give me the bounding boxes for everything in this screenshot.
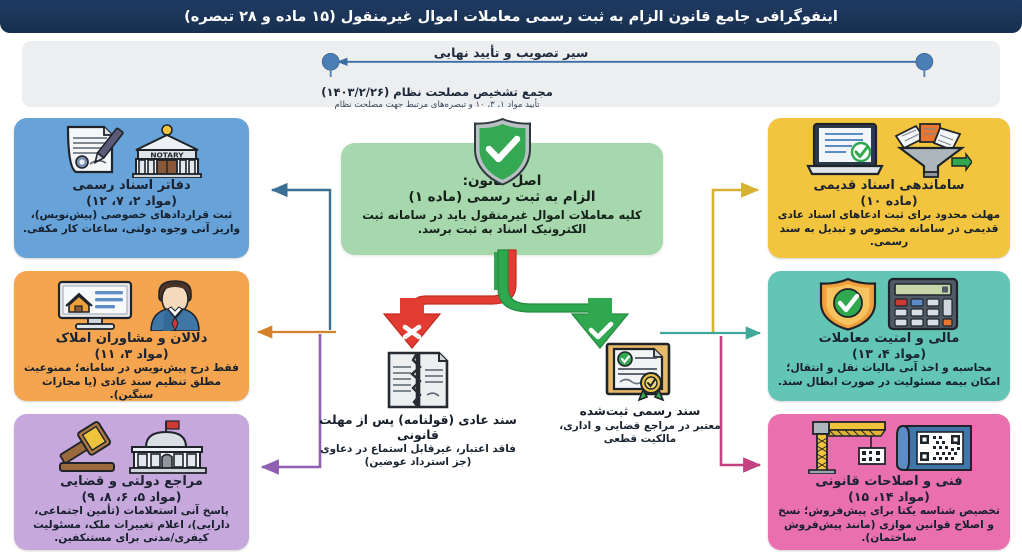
torn-document-icon [318, 349, 518, 411]
connector-old-docs [713, 190, 758, 332]
card-tech-body: تخصیص شناسه یکتا برای پیش‌فروش؛ نسخ و اص… [768, 504, 1010, 545]
verified-laptop-icon [806, 122, 884, 178]
card-gov-body: پاسخ آنی استعلامات (تأمین اجتماعی، دارای… [14, 504, 249, 545]
outcome-informal-title: سند عادی (قولنامه) پس از مهلت قانونی [318, 413, 518, 442]
shield-check-icon [471, 117, 534, 187]
timeline-node-majma-sublabel: تأیید مواد ۱، ۳، ۱۰ و تبصره‌های مرتبط جه… [297, 100, 577, 110]
card-government-judiciary[interactable]: مراجع دولتی و قضایی (مواد ۵، ۶، ۸، ۹) پا… [14, 414, 249, 550]
timeline-node-majma: مجمع تشخیص مصلحت نظام (۱۴۰۳/۲/۲۶) تأیید … [297, 85, 577, 110]
card-notary-title: دفاتر اسناد رسمی [14, 179, 249, 194]
outcome-official-body: معتبر در مراجع قضایی و اداری، مالکیت قطع… [540, 420, 740, 446]
real-estate-agent-icon [141, 279, 209, 331]
card-financial-security[interactable]: مالی و امنیت معاملات (مواد ۴، ۱۳) محاسبه… [768, 271, 1010, 401]
card-fin-articles: (مواد ۴، ۱۳) [768, 347, 1010, 361]
law-principle-title-line2: الزام به ثبت رسمی (ماده ۱) [341, 189, 663, 205]
gavel-icon [54, 420, 120, 474]
card-gov-title: مراجع دولتی و قضایی [14, 475, 249, 490]
signed-document-pen-icon [60, 124, 124, 178]
card-tech-title: فنی و اصلاحات قانونی [768, 475, 1010, 490]
notary-building-icon: NOTARY [130, 124, 204, 178]
property-listing-monitor-icon [55, 279, 135, 331]
card-gov-articles: (مواد ۵، ۶، ۸، ۹) [14, 490, 249, 504]
document-funnel-icon [890, 122, 972, 178]
card-old-body: مهلت محدود برای ثبت ادعاهای اسناد عادی ق… [768, 208, 1010, 249]
infographic-canvas: اینفوگرافی جامع قانون الزام به ثبت رسمی … [0, 0, 1022, 554]
card-fin-icons [768, 275, 1010, 331]
card-tech-icons [768, 418, 1010, 474]
card-brokers-body: فقط درج پیش‌نویس در سامانه؛ ممنوعیت مطلق… [14, 361, 249, 401]
outcome-official-title: سند رسمی ثبت‌شده [540, 404, 740, 419]
law-principle-body: کلیه معاملات اموال غیرمنقول باید در ساما… [341, 208, 663, 237]
government-building-icon [126, 420, 210, 474]
security-shield-check-icon [817, 277, 879, 331]
card-old-articles: (ماده ۱۰) [768, 194, 1010, 208]
outcome-informal-body: فاقد اعتبار، غیرقابل استماع در دعاوی (جز… [318, 443, 518, 469]
card-gov-icons [14, 418, 249, 474]
header-bar: اینفوگرافی جامع قانون الزام به ثبت رسمی … [0, 0, 1022, 33]
outcome-informal-document: سند عادی (قولنامه) پس از مهلت قانونی فاق… [318, 349, 518, 469]
outcome-official-document: سند رسمی ثبت‌شده معتبر در مراجع قضایی و … [540, 340, 740, 446]
calculator-icon [885, 277, 961, 331]
card-notary-offices[interactable]: NOTARY [14, 118, 249, 258]
card-notary-body: ثبت قراردادهای خصوصی (پیش‌نویس)، واریز آ… [14, 208, 249, 235]
official-registered-document-icon [540, 340, 740, 402]
card-notary-icons: NOTARY [14, 122, 249, 178]
card-brokers-articles: (مواد ۳، ۱۱) [14, 347, 249, 361]
card-real-estate-brokers[interactable]: دلالان و مشاوران املاک (مواد ۳، ۱۱) فقط … [14, 271, 249, 401]
approval-timeline-panel: سیر تصویب و تأیید نهایی مجمع تشخیص مصلحت… [22, 41, 1000, 107]
timeline-node-majma-label: مجمع تشخیص مصلحت نظام (۱۴۰۳/۲/۲۶) [297, 85, 577, 99]
qr-code-blueprint-icon [893, 420, 977, 474]
page-title: اینفوگرافی جامع قانون الزام به ثبت رسمی … [184, 9, 838, 25]
connector-gov [262, 334, 320, 467]
card-brokers-title: دلالان و مشاوران املاک [14, 332, 249, 347]
construction-crane-icon [801, 420, 887, 474]
card-notary-articles: (مواد ۲، ۷، ۱۲) [14, 194, 249, 208]
card-technical-legal-reforms[interactable]: فنی و اصلاحات قانونی (مواد ۱۴، ۱۵) تخصیص… [768, 414, 1010, 550]
card-old-icons [768, 122, 1010, 178]
card-fin-body: محاسبه و اخذ آنی مالیات نقل و انتقال؛ ام… [768, 361, 1010, 388]
card-fin-title: مالی و امنیت معاملات [768, 332, 1010, 347]
connector-notary [272, 190, 330, 330]
card-tech-articles: (مواد ۱۴، ۱۵) [768, 490, 1010, 504]
card-old-title: ساماندهی اسناد قدیمی [768, 179, 1010, 194]
card-brokers-icons [14, 275, 249, 331]
card-legacy-documents[interactable]: ساماندهی اسناد قدیمی (ماده ۱۰) مهلت محدو… [768, 118, 1010, 258]
